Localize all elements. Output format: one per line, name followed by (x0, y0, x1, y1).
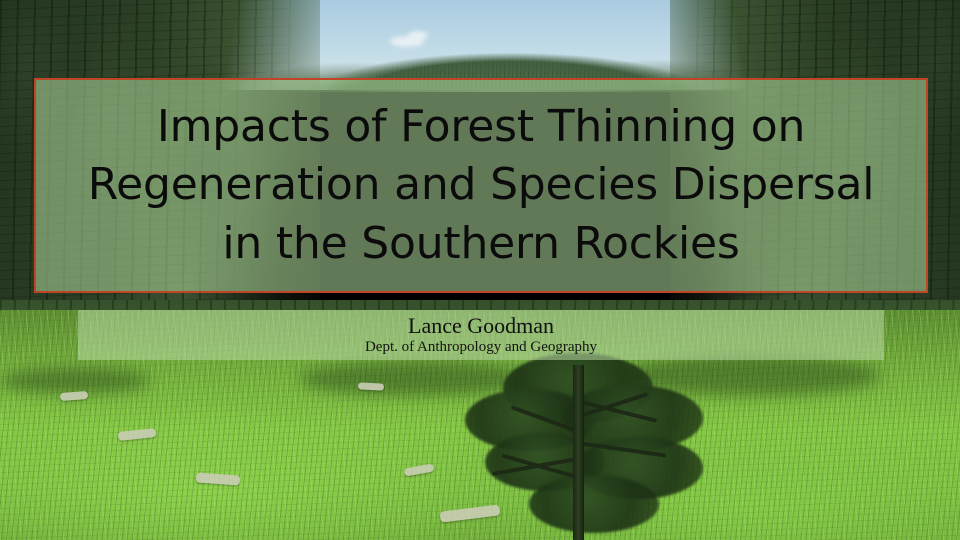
meadow-shadow (0, 368, 150, 394)
pine-trunk (573, 365, 584, 540)
author-affiliation: Dept. of Anthropology and Geography (365, 338, 597, 356)
presentation-slide: Impacts of Forest Thinning on Regenerati… (0, 0, 960, 540)
fallen-log (358, 382, 384, 390)
title-box: Impacts of Forest Thinning on Regenerati… (34, 78, 928, 293)
page-title: Impacts of Forest Thinning on Regenerati… (36, 98, 926, 272)
foreground-pine-tree (455, 345, 705, 540)
author-name: Lance Goodman (408, 314, 554, 337)
subtitle-box: Lance Goodman Dept. of Anthropology and … (78, 310, 884, 360)
